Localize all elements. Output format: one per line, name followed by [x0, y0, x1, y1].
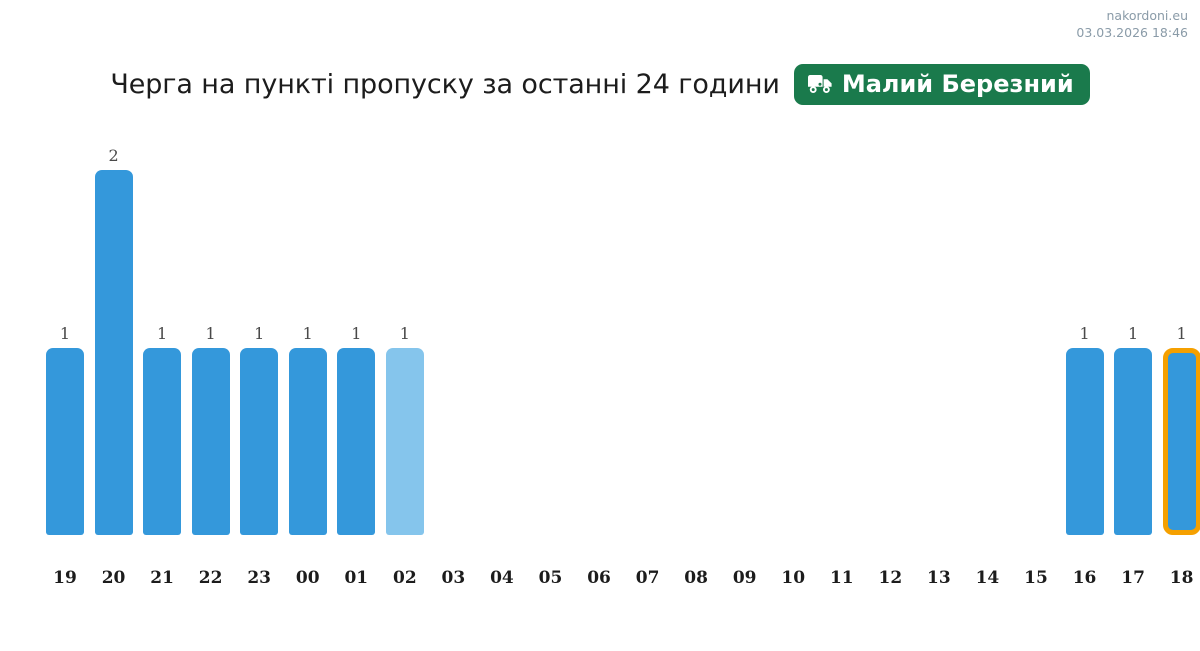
x-axis-tick-15: 15 [1017, 570, 1055, 587]
x-axis-tick-02: 02 [386, 570, 424, 587]
x-axis-tick-01: 01 [337, 570, 375, 587]
x-axis-tick-08: 08 [677, 570, 715, 587]
bar-value-label-02: 1 [386, 326, 424, 342]
x-axis-tick-23: 23 [240, 570, 278, 587]
chart-bar-16[interactable] [1066, 348, 1104, 535]
bar-value-label-21: 1 [143, 326, 181, 342]
bar-value-label-00: 1 [289, 326, 327, 342]
bar-value-label-20: 2 [95, 148, 133, 164]
chart-bar-02[interactable] [386, 348, 424, 535]
queue-bar-chart: 12111111111 1920212223000102030405060708… [0, 0, 1200, 651]
x-axis-tick-05: 05 [532, 570, 570, 587]
x-axis-tick-00: 00 [289, 570, 327, 587]
bar-value-label-23: 1 [240, 326, 278, 342]
bar-value-label-16: 1 [1066, 326, 1104, 342]
chart-bar-21[interactable] [143, 348, 181, 535]
chart-plot-area: 12111111111 [46, 130, 1166, 535]
bar-value-label-22: 1 [192, 326, 230, 342]
x-axis-tick-14: 14 [968, 570, 1006, 587]
bar-value-label-01: 1 [337, 326, 375, 342]
bar-value-label-17: 1 [1114, 326, 1152, 342]
chart-bar-17[interactable] [1114, 348, 1152, 535]
x-axis-tick-10: 10 [774, 570, 812, 587]
x-axis-tick-09: 09 [726, 570, 764, 587]
chart-bar-20[interactable] [95, 170, 133, 535]
x-axis-tick-03: 03 [434, 570, 472, 587]
x-axis-tick-13: 13 [920, 570, 958, 587]
bar-slot [95, 130, 133, 535]
bar-value-label-19: 1 [46, 326, 84, 342]
chart-bar-18[interactable] [1163, 348, 1200, 535]
x-axis-tick-12: 12 [871, 570, 909, 587]
x-axis-tick-19: 19 [46, 570, 84, 587]
x-axis-tick-16: 16 [1066, 570, 1104, 587]
x-axis-tick-11: 11 [823, 570, 861, 587]
x-axis-tick-20: 20 [95, 570, 133, 587]
chart-bar-19[interactable] [46, 348, 84, 535]
chart-bar-01[interactable] [337, 348, 375, 535]
x-axis-tick-06: 06 [580, 570, 618, 587]
x-axis-tick-21: 21 [143, 570, 181, 587]
chart-bar-22[interactable] [192, 348, 230, 535]
bar-value-label-18: 1 [1163, 326, 1200, 342]
x-axis-tick-17: 17 [1114, 570, 1152, 587]
x-axis-tick-04: 04 [483, 570, 521, 587]
x-axis-tick-07: 07 [629, 570, 667, 587]
x-axis-tick-22: 22 [192, 570, 230, 587]
chart-bar-00[interactable] [289, 348, 327, 535]
x-axis-tick-18: 18 [1163, 570, 1200, 587]
chart-bar-23[interactable] [240, 348, 278, 535]
